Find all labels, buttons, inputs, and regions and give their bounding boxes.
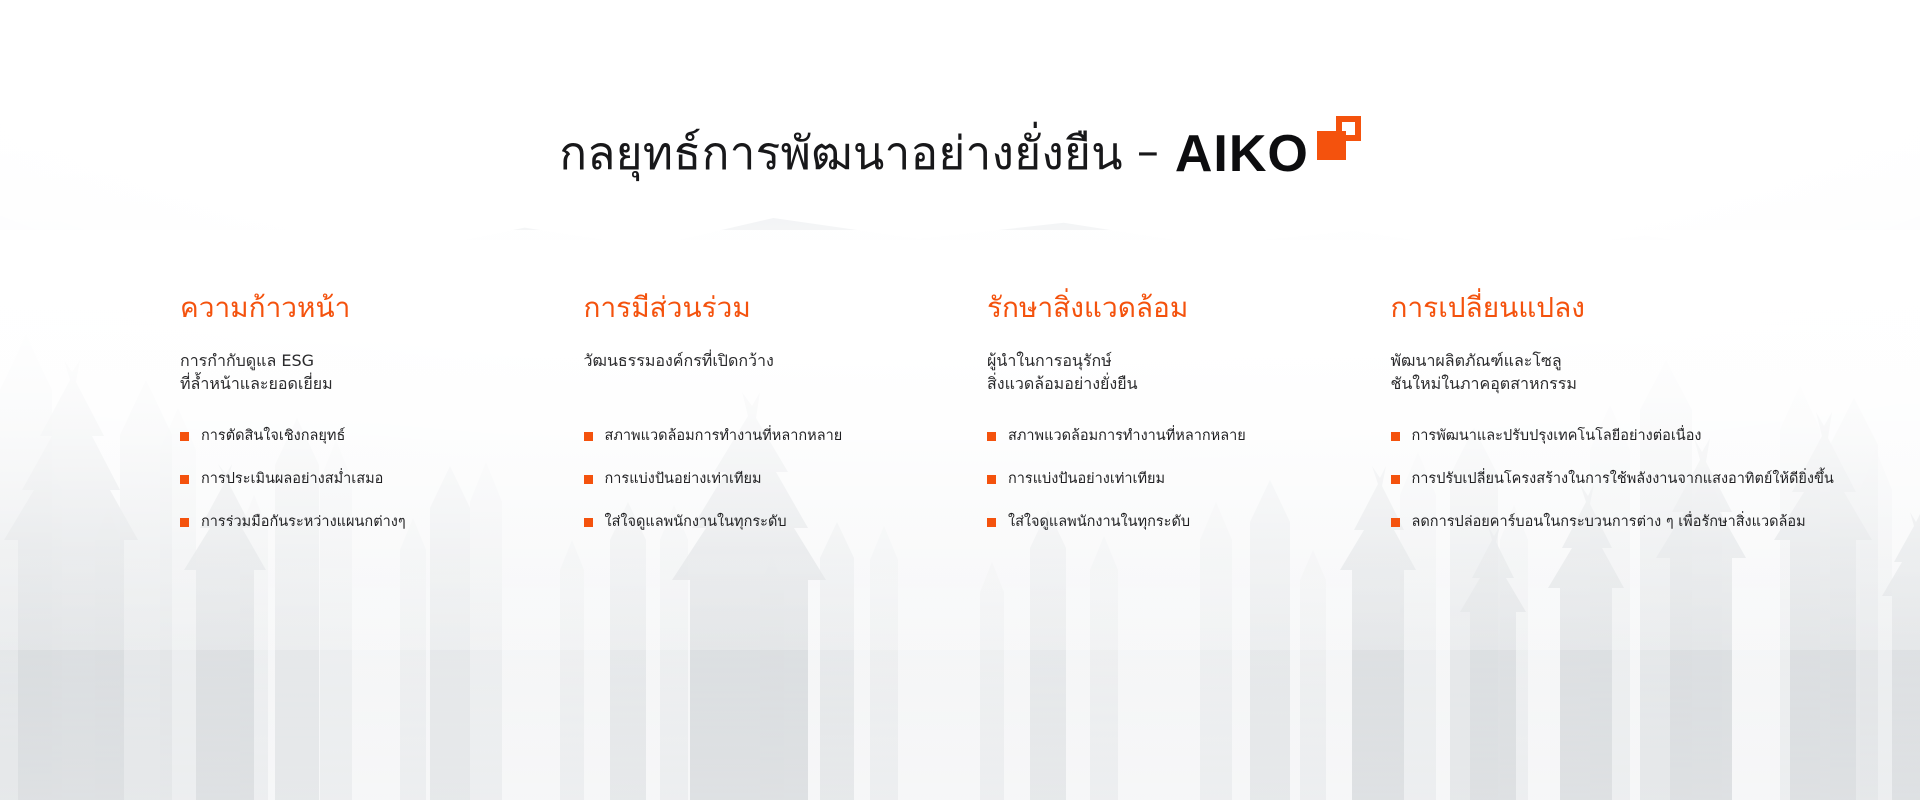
pillar-bullet-list: การตัดสินใจเชิงกลยุทธ์ การประเมินผลอย่าง…	[180, 427, 560, 532]
bullet-square-icon	[987, 432, 996, 441]
pillar-subtitle-line1: ผู้นำในการอนุรักษ์	[987, 349, 1367, 372]
bullet-label: สภาพแวดล้อมการทำงานที่หลากหลาย	[605, 427, 843, 446]
list-item: การตัดสินใจเชิงกลยุทธ์	[180, 427, 560, 446]
pillar-title: ความก้าวหน้า	[180, 290, 560, 325]
pillar-bullet-list: สภาพแวดล้อมการทำงานที่หลากหลาย การแบ่งปั…	[584, 427, 964, 532]
bullet-label: การประเมินผลอย่างสม่ำเสมอ	[201, 470, 383, 489]
list-item: การร่วมมือกันระหว่างแผนกต่างๆ	[180, 513, 560, 532]
bullet-square-icon	[987, 475, 996, 484]
pillar-title: รักษาสิ่งแวดล้อม	[987, 290, 1367, 325]
bullet-square-icon	[584, 518, 593, 527]
pillar-subtitle-line1: วัฒนธรรมองค์กรที่เปิดกว้าง	[584, 349, 964, 372]
list-item: สภาพแวดล้อมการทำงานที่หลากหลาย	[584, 427, 964, 446]
pillar-subtitle-line2	[584, 372, 964, 395]
bullet-label: การร่วมมือกันระหว่างแผนกต่างๆ	[201, 513, 406, 532]
slide-header: กลยุทธ์การพัฒนาอย่างยั่งยืน – AIKO	[0, 128, 1920, 180]
list-item: ใส่ใจดูแลพนักงานในทุกระดับ	[987, 513, 1367, 532]
bullet-label: การพัฒนาและปรับปรุงเทคโนโลยีอย่างต่อเนื่…	[1412, 427, 1702, 446]
title-separator: –	[1137, 128, 1159, 176]
slide-root: กลยุทธ์การพัฒนาอย่างยั่งยืน – AIKO ความก…	[0, 0, 1920, 800]
pillar-title: การมีส่วนร่วม	[584, 290, 964, 325]
bullet-square-icon	[1391, 518, 1400, 527]
bullet-label: ลดการปล่อยคาร์บอนในกระบวนการต่าง ๆ เพื่อ…	[1412, 513, 1806, 532]
brand-lockup: AIKO	[1175, 128, 1361, 180]
bullet-square-icon	[180, 518, 189, 527]
bullet-square-icon	[987, 518, 996, 527]
list-item: ลดการปล่อยคาร์บอนในกระบวนการต่าง ๆ เพื่อ…	[1391, 513, 1771, 532]
bullet-label: การแบ่งปันอย่างเท่าเทียม	[1008, 470, 1165, 489]
list-item: การแบ่งปันอย่างเท่าเทียม	[987, 470, 1367, 489]
list-item: สภาพแวดล้อมการทำงานที่หลากหลาย	[987, 427, 1367, 446]
bullet-square-icon	[180, 432, 189, 441]
pillar-subtitle: วัฒนธรรมองค์กรที่เปิดกว้าง	[584, 349, 964, 395]
bullet-square-icon	[1391, 432, 1400, 441]
pillar-subtitle: การกำกับดูแล ESG ที่ล้ำหน้าและยอดเยี่ยม	[180, 349, 560, 395]
pillar-subtitle: ผู้นำในการอนุรักษ์ สิ่งแวดล้อมอย่างยั่งย…	[987, 349, 1367, 395]
page-title: กลยุทธ์การพัฒนาอย่างยั่งยืน	[559, 128, 1123, 179]
bullet-square-icon	[1391, 475, 1400, 484]
bullet-square-icon	[584, 432, 593, 441]
fog-bottom-veil	[0, 540, 1920, 800]
pillar-bullet-list: การพัฒนาและปรับปรุงเทคโนโลยีอย่างต่อเนื่…	[1391, 427, 1771, 532]
logo-outline-square	[1336, 116, 1361, 141]
pillar-column-transformation: การเปลี่ยนแปลง พัฒนาผลิตภัณฑ์และโซลู ชัน…	[1391, 290, 1771, 532]
pillar-subtitle-line1: พัฒนาผลิตภัณฑ์และโซลู	[1391, 349, 1771, 372]
list-item: การปรับเปลี่ยนโครงสร้างในการใช้พลังงานจา…	[1391, 470, 1771, 489]
bullet-label: ใส่ใจดูแลพนักงานในทุกระดับ	[1008, 513, 1190, 532]
pillar-title: การเปลี่ยนแปลง	[1391, 290, 1771, 325]
pillar-column-engagement: การมีส่วนร่วม วัฒนธรรมองค์กรที่เปิดกว้าง…	[584, 290, 988, 532]
pillar-column-progress: ความก้าวหน้า การกำกับดูแล ESG ที่ล้ำหน้า…	[180, 290, 584, 532]
list-item: การแบ่งปันอย่างเท่าเทียม	[584, 470, 964, 489]
bullet-square-icon	[584, 475, 593, 484]
pillar-column-environment: รักษาสิ่งแวดล้อม ผู้นำในการอนุรักษ์ สิ่ง…	[987, 290, 1391, 532]
pillar-subtitle-line1: การกำกับดูแล ESG	[180, 349, 560, 372]
bullet-label: การแบ่งปันอย่างเท่าเทียม	[605, 470, 762, 489]
pillar-bullet-list: สภาพแวดล้อมการทำงานที่หลากหลาย การแบ่งปั…	[987, 427, 1367, 532]
pillar-columns: ความก้าวหน้า การกำกับดูแล ESG ที่ล้ำหน้า…	[0, 290, 1920, 532]
pillar-subtitle-line2: ชันใหม่ในภาคอุตสาหกรรม	[1391, 372, 1771, 395]
bullet-square-icon	[180, 475, 189, 484]
list-item: ใส่ใจดูแลพนักงานในทุกระดับ	[584, 513, 964, 532]
pillar-subtitle-line2: สิ่งแวดล้อมอย่างยั่งยืน	[987, 372, 1367, 395]
pillar-subtitle: พัฒนาผลิตภัณฑ์และโซลู ชันใหม่ในภาคอุตสาห…	[1391, 349, 1771, 395]
bullet-label: การปรับเปลี่ยนโครงสร้างในการใช้พลังงานจา…	[1412, 470, 1834, 489]
bullet-label: สภาพแวดล้อมการทำงานที่หลากหลาย	[1008, 427, 1246, 446]
aiko-logo-mark-icon	[1317, 116, 1361, 160]
bullet-label: ใส่ใจดูแลพนักงานในทุกระดับ	[605, 513, 787, 532]
bullet-label: การตัดสินใจเชิงกลยุทธ์	[201, 427, 345, 446]
brand-wordmark: AIKO	[1175, 128, 1309, 180]
list-item: การประเมินผลอย่างสม่ำเสมอ	[180, 470, 560, 489]
pillar-subtitle-line2: ที่ล้ำหน้าและยอดเยี่ยม	[180, 372, 560, 395]
list-item: การพัฒนาและปรับปรุงเทคโนโลยีอย่างต่อเนื่…	[1391, 427, 1771, 446]
